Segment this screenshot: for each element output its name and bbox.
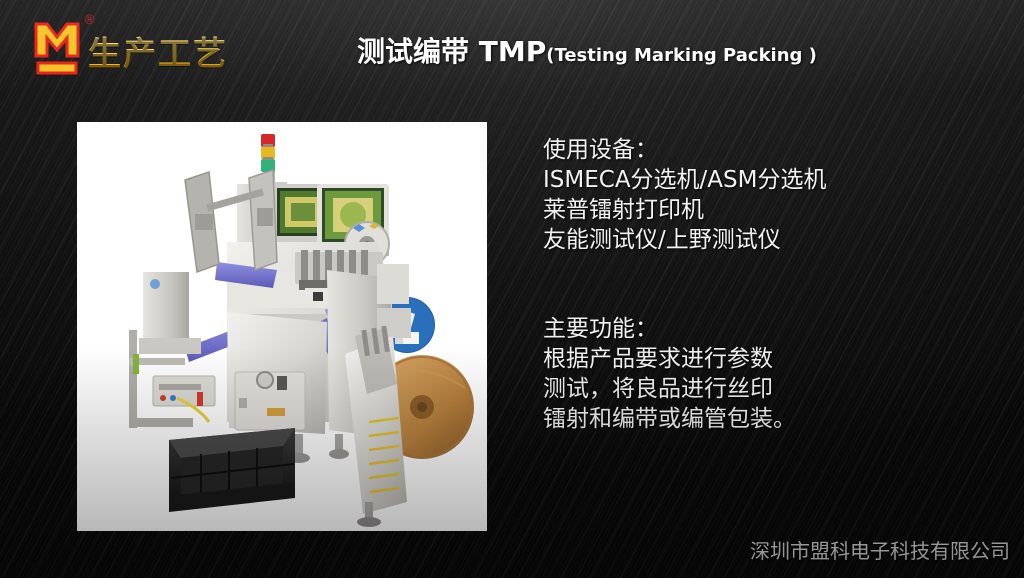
- mk-shield-logo-icon: ®: [30, 16, 86, 78]
- function-text-block: 主要功能： 根据产品要求进行参数 测试，将良品进行丝印 镭射和编带或编管包装。: [543, 314, 796, 434]
- function-line-1: 根据产品要求进行参数: [543, 344, 796, 374]
- equipment-line-3: 友能测试仪/上野测试仪: [543, 225, 826, 255]
- company-footer: 深圳市盟科电子科技有限公司: [750, 535, 1010, 564]
- function-line-2: 测试，将良品进行丝印: [543, 374, 796, 404]
- slide-root: ® 生产工艺 测试编带 TMP(Testing Marking Packing …: [0, 0, 1024, 578]
- registered-trademark-icon: ®: [83, 14, 96, 27]
- equipment-line-2: 莱普镭射打印机: [543, 195, 826, 225]
- equipment-heading: 使用设备：: [543, 135, 826, 165]
- function-line-3: 镭射和编带或编管包装。: [543, 404, 796, 434]
- page-title: 测试编带 TMP(Testing Marking Packing ): [357, 30, 817, 70]
- equipment-line-1: ISMECA分选机/ASM分选机: [543, 165, 826, 195]
- page-title-subtitle: (Testing Marking Packing ): [546, 45, 817, 66]
- brand-name-label: 生产工艺: [88, 27, 228, 75]
- machine-photo: [77, 122, 487, 531]
- function-heading: 主要功能：: [543, 314, 796, 344]
- equipment-text-block: 使用设备： ISMECA分选机/ASM分选机 莱普镭射打印机 友能测试仪/上野测…: [543, 135, 826, 255]
- page-title-main: 测试编带 TMP: [357, 35, 546, 68]
